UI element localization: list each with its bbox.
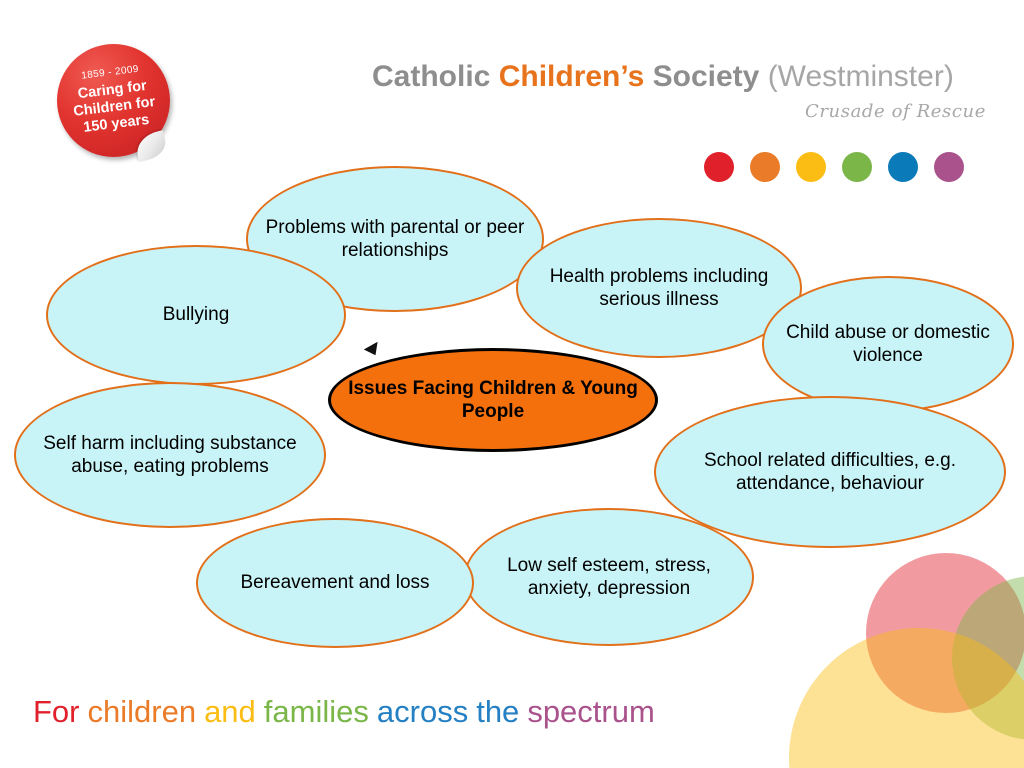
- node-health-problems[interactable]: Health problems including serious illnes…: [516, 218, 802, 358]
- node-self-harm-label: Self harm including substance abuse, eat…: [16, 432, 324, 478]
- node-self-harm[interactable]: Self harm including substance abuse, eat…: [14, 382, 326, 528]
- arrow-head-icon: [364, 338, 381, 355]
- strapline-word-4: across: [377, 694, 468, 729]
- strapline-word-5: the: [476, 694, 519, 729]
- node-bereavement-label: Bereavement and loss: [226, 571, 443, 594]
- node-low-self-esteem-label: Low self esteem, stress, anxiety, depres…: [466, 554, 752, 600]
- mindmap-center-node[interactable]: Issues Facing Children & Young People: [328, 348, 658, 452]
- node-child-abuse-label: Child abuse or domestic violence: [764, 321, 1012, 367]
- slide-canvas: 1859 - 2009 Caring for Children for 150 …: [0, 0, 1024, 768]
- strapline-word-6: spectrum: [527, 694, 654, 729]
- mindmap-center-label: Issues Facing Children & Young People: [331, 377, 655, 423]
- strapline-word-0: For: [33, 694, 80, 729]
- node-problems-relationships-label: Problems with parental or peer relations…: [248, 216, 542, 262]
- strapline-word-2: and: [204, 694, 256, 729]
- node-low-self-esteem[interactable]: Low self esteem, stress, anxiety, depres…: [464, 508, 754, 646]
- node-child-abuse[interactable]: Child abuse or domestic violence: [762, 276, 1014, 412]
- strapline-word-1: children: [88, 694, 197, 729]
- node-school-difficulties-label: School related difficulties, e.g. attend…: [656, 449, 1004, 495]
- node-health-problems-label: Health problems including serious illnes…: [518, 265, 800, 311]
- strapline-word-3: families: [264, 694, 369, 729]
- mindmap-diagram: Problems with parental or peer relations…: [0, 0, 1024, 768]
- node-bereavement[interactable]: Bereavement and loss: [196, 518, 474, 648]
- node-bullying[interactable]: Bullying: [46, 245, 346, 385]
- footer-strapline: Forchildrenandfamiliesacrossthespectrum: [33, 694, 663, 730]
- node-bullying-label: Bullying: [149, 303, 244, 326]
